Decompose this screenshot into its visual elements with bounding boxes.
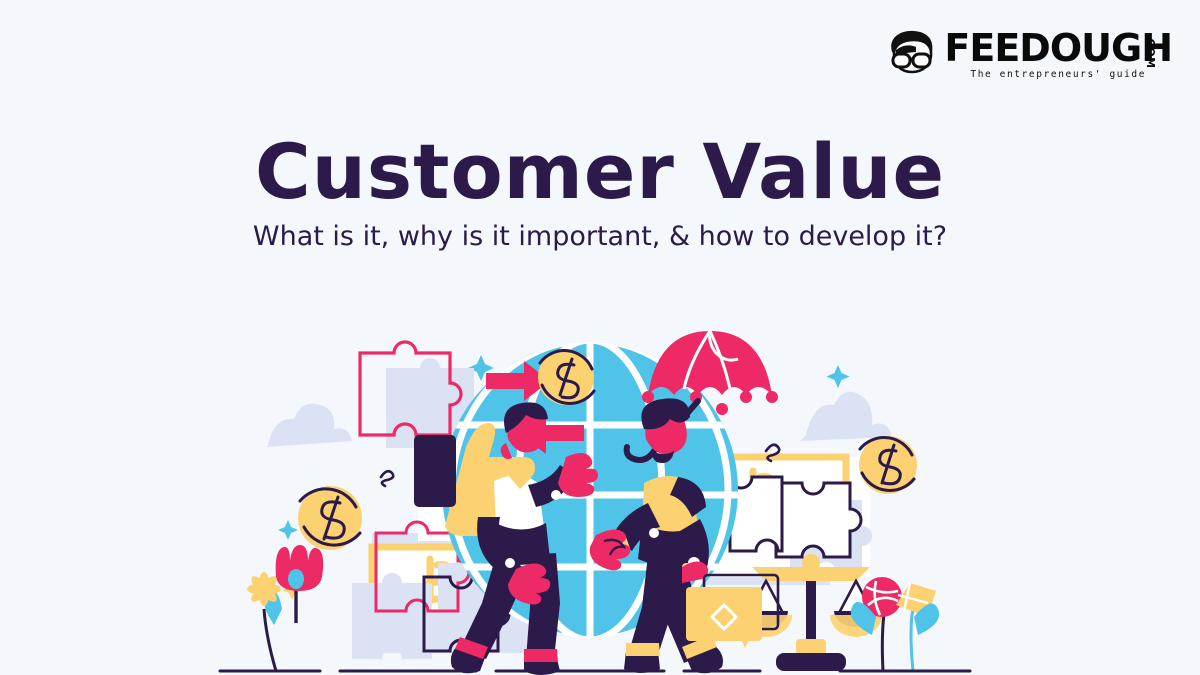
page-subtitle: What is it, why is it important, & how t…	[0, 220, 1200, 254]
dollar-coin-right	[859, 436, 917, 494]
heading-block: Customer Value What is it, why is it imp…	[0, 130, 1200, 254]
customer-value-illustration	[0, 305, 1200, 675]
puzzle-piece-dark-outline	[719, 477, 861, 557]
cloud-left	[266, 404, 352, 447]
face-with-glasses-icon	[884, 28, 940, 81]
logo-tagline: The entrepreneurs' guide	[944, 69, 1172, 80]
feedough-logo[interactable]: FEEDOUGH .COM The entrepreneurs' guide	[884, 28, 1172, 81]
daisy-flower	[247, 572, 281, 671]
rose-yellow	[896, 583, 939, 671]
dollar-coin-top	[538, 349, 594, 405]
page-title: Customer Value	[0, 130, 1200, 214]
dollar-coin-left	[298, 486, 362, 550]
poster-canvas: FEEDOUGH .COM The entrepreneurs' guide C…	[0, 0, 1200, 675]
logo-wordmark: FEEDOUGH	[944, 28, 1172, 68]
logo-dotcom: .COM	[1144, 34, 1157, 69]
cloud-right	[800, 392, 892, 441]
